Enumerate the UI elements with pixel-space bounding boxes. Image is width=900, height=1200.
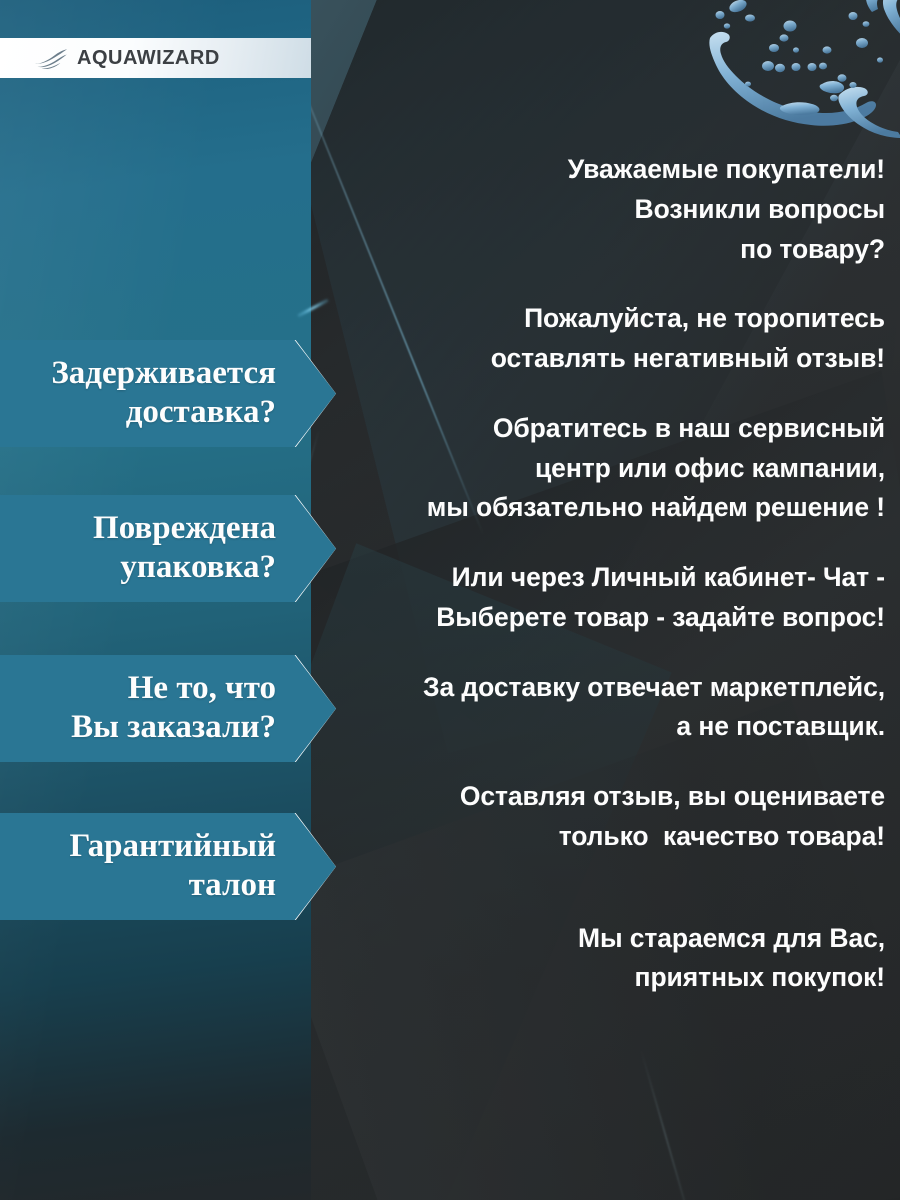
message-line: Оставляя отзыв, вы оцениваете: [330, 777, 885, 817]
message-no-rush-review: Пожалуйста, не торопитесь оставлять нега…: [330, 299, 885, 379]
message-line: Уважаемые покупатели!: [330, 150, 885, 190]
message-contact-service: Обратитесь в наш сервисный центр или офи…: [330, 409, 885, 528]
message-line: оставлять негативный отзыв!: [330, 339, 885, 379]
message-line: Мы стараемся для Вас,: [330, 919, 885, 959]
banner-line: Задерживается: [4, 354, 276, 393]
banner-warranty-card-text: Гарантийный талон: [0, 813, 336, 920]
banner-line: доставка?: [4, 393, 276, 432]
message-line: мы обязательно найдем решение !: [330, 488, 885, 528]
customer-message-column: Уважаемые покупатели! Возникли вопросы п…: [330, 150, 885, 998]
message-closing: Мы стараемся для Вас, приятных покупок!: [330, 919, 885, 999]
message-line: а не поставщик.: [330, 707, 885, 747]
banner-line: Вы заказали?: [4, 708, 276, 747]
message-line: За доставку отвечает маркетплейс,: [330, 668, 885, 708]
message-line: Выберете товар - задайте вопрос!: [330, 598, 885, 638]
promo-card: AQUAWIZARD Задерживается доставка? Повре…: [0, 0, 900, 1200]
banner-line: талон: [4, 866, 276, 905]
wave-icon: [34, 47, 68, 69]
banner-line: Повреждена: [4, 509, 276, 548]
banner-line: Не то, что: [4, 669, 276, 708]
banner-wrong-item-text: Не то, что Вы заказали?: [0, 655, 336, 762]
brand-logo-strip: AQUAWIZARD: [0, 38, 311, 78]
banner-line: Гарантийный: [4, 827, 276, 866]
message-line: только качество товара!: [330, 817, 885, 857]
banner-delivery-delayed-text: Задерживается доставка?: [0, 340, 336, 447]
message-personal-account-chat: Или через Личный кабинет- Чат - Выберете…: [330, 558, 885, 638]
message-line: Пожалуйста, не торопитесь: [330, 299, 885, 339]
message-line: по товару?: [330, 230, 885, 270]
message-marketplace-delivery: За доставку отвечает маркетплейс, а не п…: [330, 668, 885, 748]
brand-name: AQUAWIZARD: [77, 47, 220, 70]
message-line: приятных покупок!: [330, 958, 885, 998]
water-splash-icon: [690, 0, 900, 143]
message-line: Возникли вопросы: [330, 190, 885, 230]
message-rate-quality: Оставляя отзыв, вы оцениваете только кач…: [330, 777, 885, 857]
message-line: Или через Личный кабинет- Чат -: [330, 558, 885, 598]
message-line: Обратитесь в наш сервисный: [330, 409, 885, 449]
banner-line: упаковка?: [4, 548, 276, 587]
message-greeting: Уважаемые покупатели! Возникли вопросы п…: [330, 150, 885, 269]
message-line: центр или офис кампании,: [330, 449, 885, 489]
banner-package-damaged-text: Повреждена упаковка?: [0, 495, 336, 602]
